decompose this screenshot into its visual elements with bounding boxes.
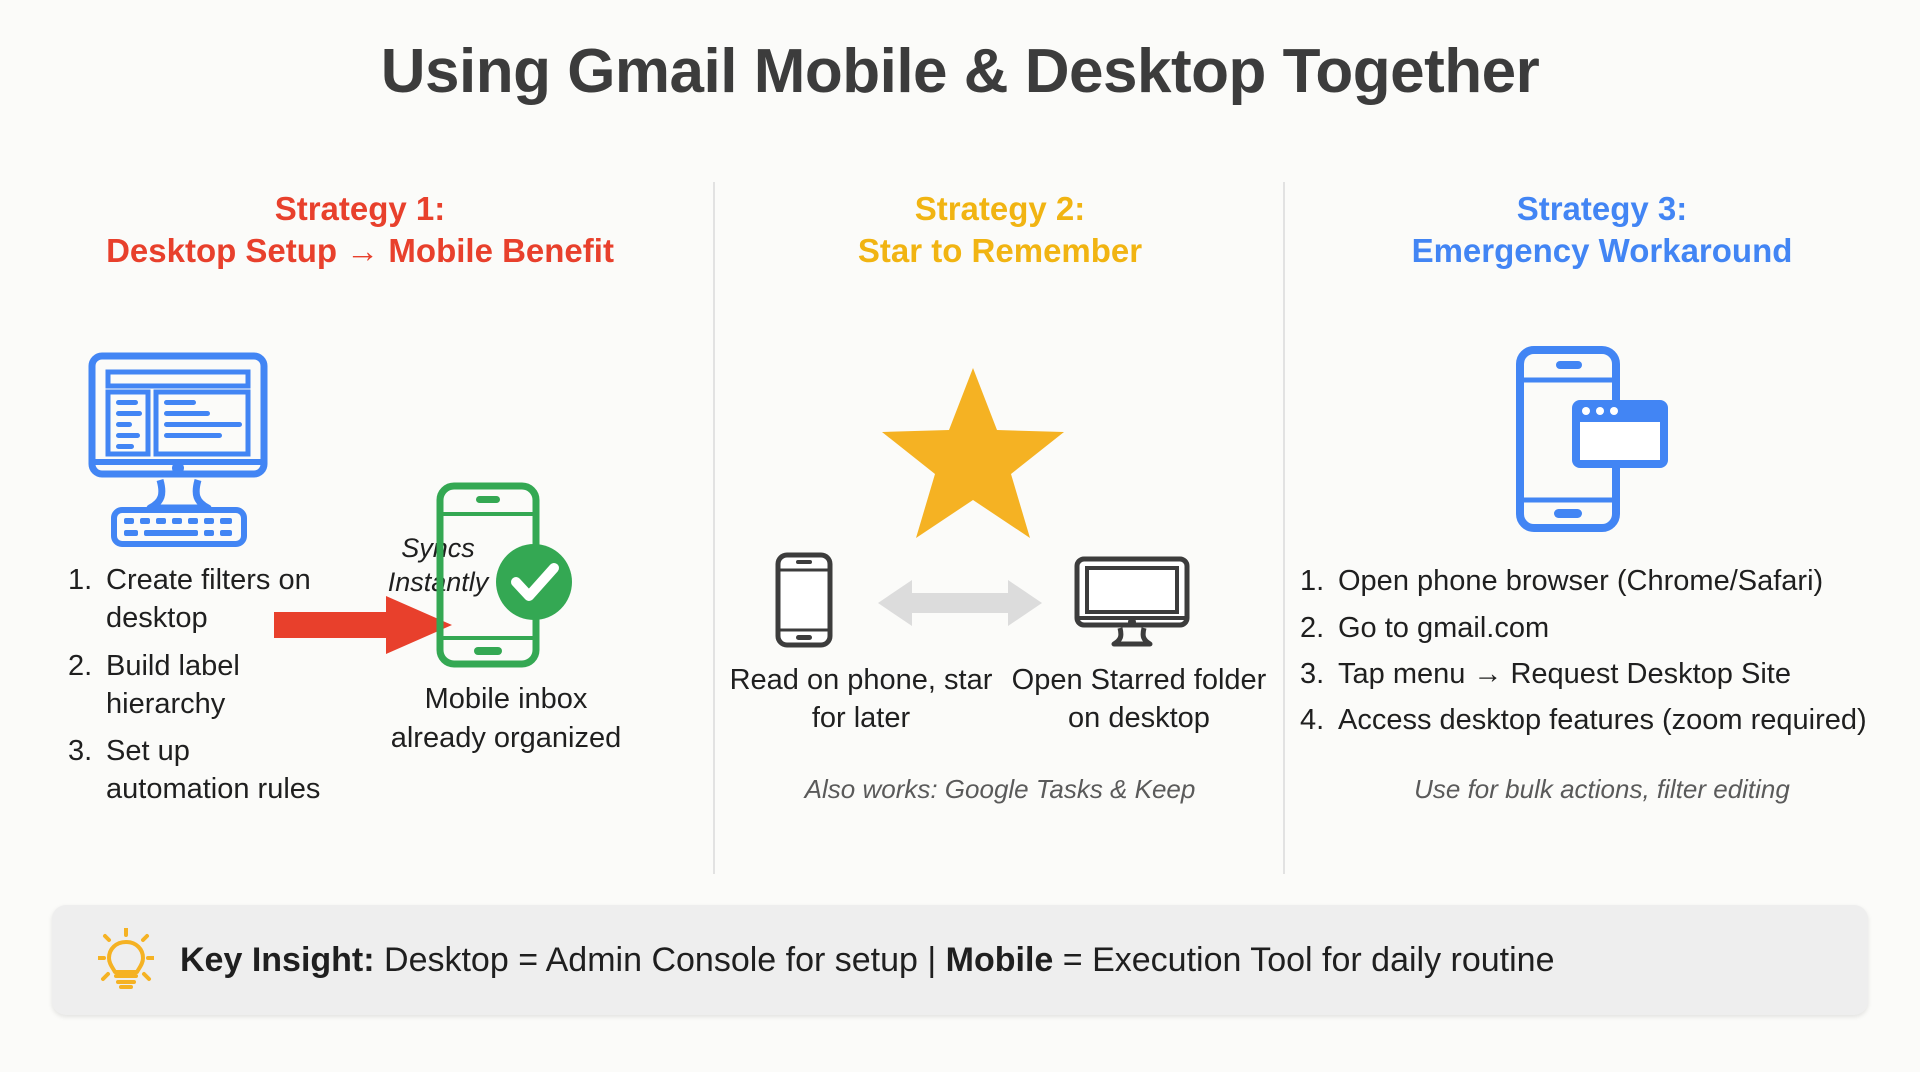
step-number: 2.	[68, 648, 106, 723]
list-item: 2. Go to gmail.com	[1300, 609, 1914, 647]
column-divider-2	[1283, 182, 1285, 874]
sync-arrow-icon	[274, 594, 454, 656]
step-text: Go to gmail.com	[1338, 609, 1914, 647]
step-text: Tap menu → Request Desktop Site	[1338, 655, 1914, 693]
strategy-1-column: Strategy 1: Desktop Setup → Mobile Benef…	[16, 188, 704, 832]
strategy-2-column: Strategy 2: Star to Remember	[722, 188, 1278, 832]
strategy-3-column: Strategy 3: Emergency Workaround 1. Open…	[1292, 188, 1912, 832]
step-text: Set up automation rules	[106, 733, 328, 808]
strategy-2-captions: Read on phone, star for later Open Starr…	[722, 662, 1278, 737]
strategy-2-body: Read on phone, star for later Open Starr…	[722, 272, 1278, 832]
strategy-1-header: Strategy 1: Desktop Setup → Mobile Benef…	[16, 188, 704, 272]
step-number: 2.	[1300, 609, 1338, 647]
step-number: 4.	[1300, 701, 1338, 739]
list-item: 2. Build label hierarchy	[68, 648, 328, 723]
step-text: Build label hierarchy	[106, 648, 328, 723]
step-number: 3.	[68, 733, 106, 808]
column-divider-1	[713, 182, 715, 874]
list-item: 1. Open phone browser (Chrome/Safari)	[1300, 562, 1914, 600]
caption-phone: Read on phone, star for later	[722, 662, 1000, 737]
key-insight-part2: = Execution Tool for daily routine	[1053, 941, 1554, 979]
strategy-1-body: 1. Create filters on desktop 2. Build la…	[16, 272, 704, 832]
bidirectional-arrow-icon	[878, 578, 1042, 628]
key-insight-text: Key Insight: Desktop = Admin Console for…	[180, 941, 1555, 980]
step-number: 1.	[1300, 562, 1338, 600]
strategy-2-footnote: Also works: Google Tasks & Keep	[722, 774, 1278, 805]
infographic-canvas: Using Gmail Mobile & Desktop Together St…	[0, 0, 1920, 1072]
strategy-3-steps: 1. Open phone browser (Chrome/Safari) 2.…	[1300, 562, 1914, 747]
list-item: 4. Access desktop features (zoom require…	[1300, 701, 1914, 739]
mobile-result-caption: Mobile inbox already organized	[386, 680, 626, 757]
step-number: 3.	[1300, 655, 1338, 693]
list-item: 3. Set up automation rules	[68, 733, 328, 808]
key-insight-label: Key Insight:	[180, 941, 375, 979]
star-icon	[880, 364, 1066, 542]
desktop-monitor-icon	[86, 350, 296, 550]
page-title: Using Gmail Mobile & Desktop Together	[0, 36, 1920, 107]
key-insight-part1: Desktop = Admin Console for setup |	[375, 941, 946, 979]
lightbulb-icon	[98, 928, 154, 992]
list-item: 3. Tap menu → Request Desktop Site	[1300, 655, 1914, 693]
strategy-3-header: Strategy 3: Emergency Workaround	[1292, 188, 1912, 272]
step-text: Access desktop features (zoom required)	[1338, 701, 1914, 739]
desktop-icon	[1074, 556, 1190, 648]
key-insight-bold2: Mobile	[946, 941, 1054, 979]
step-text: Open phone browser (Chrome/Safari)	[1338, 562, 1914, 600]
key-insight-banner: Key Insight: Desktop = Admin Console for…	[52, 905, 1868, 1015]
sync-devices-row	[722, 550, 1278, 650]
strategy-2-header: Strategy 2: Star to Remember	[722, 188, 1278, 272]
phone-icon	[774, 552, 834, 648]
step-number: 1.	[68, 562, 106, 637]
caption-desktop: Open Starred folder on desktop	[1000, 662, 1278, 737]
phone-with-browser-window-icon	[1514, 344, 1672, 534]
strategy-3-body: 1. Open phone browser (Chrome/Safari) 2.…	[1292, 272, 1912, 832]
mobile-phone-check-icon	[434, 480, 574, 670]
strategy-3-footnote: Use for bulk actions, filter editing	[1292, 774, 1912, 805]
